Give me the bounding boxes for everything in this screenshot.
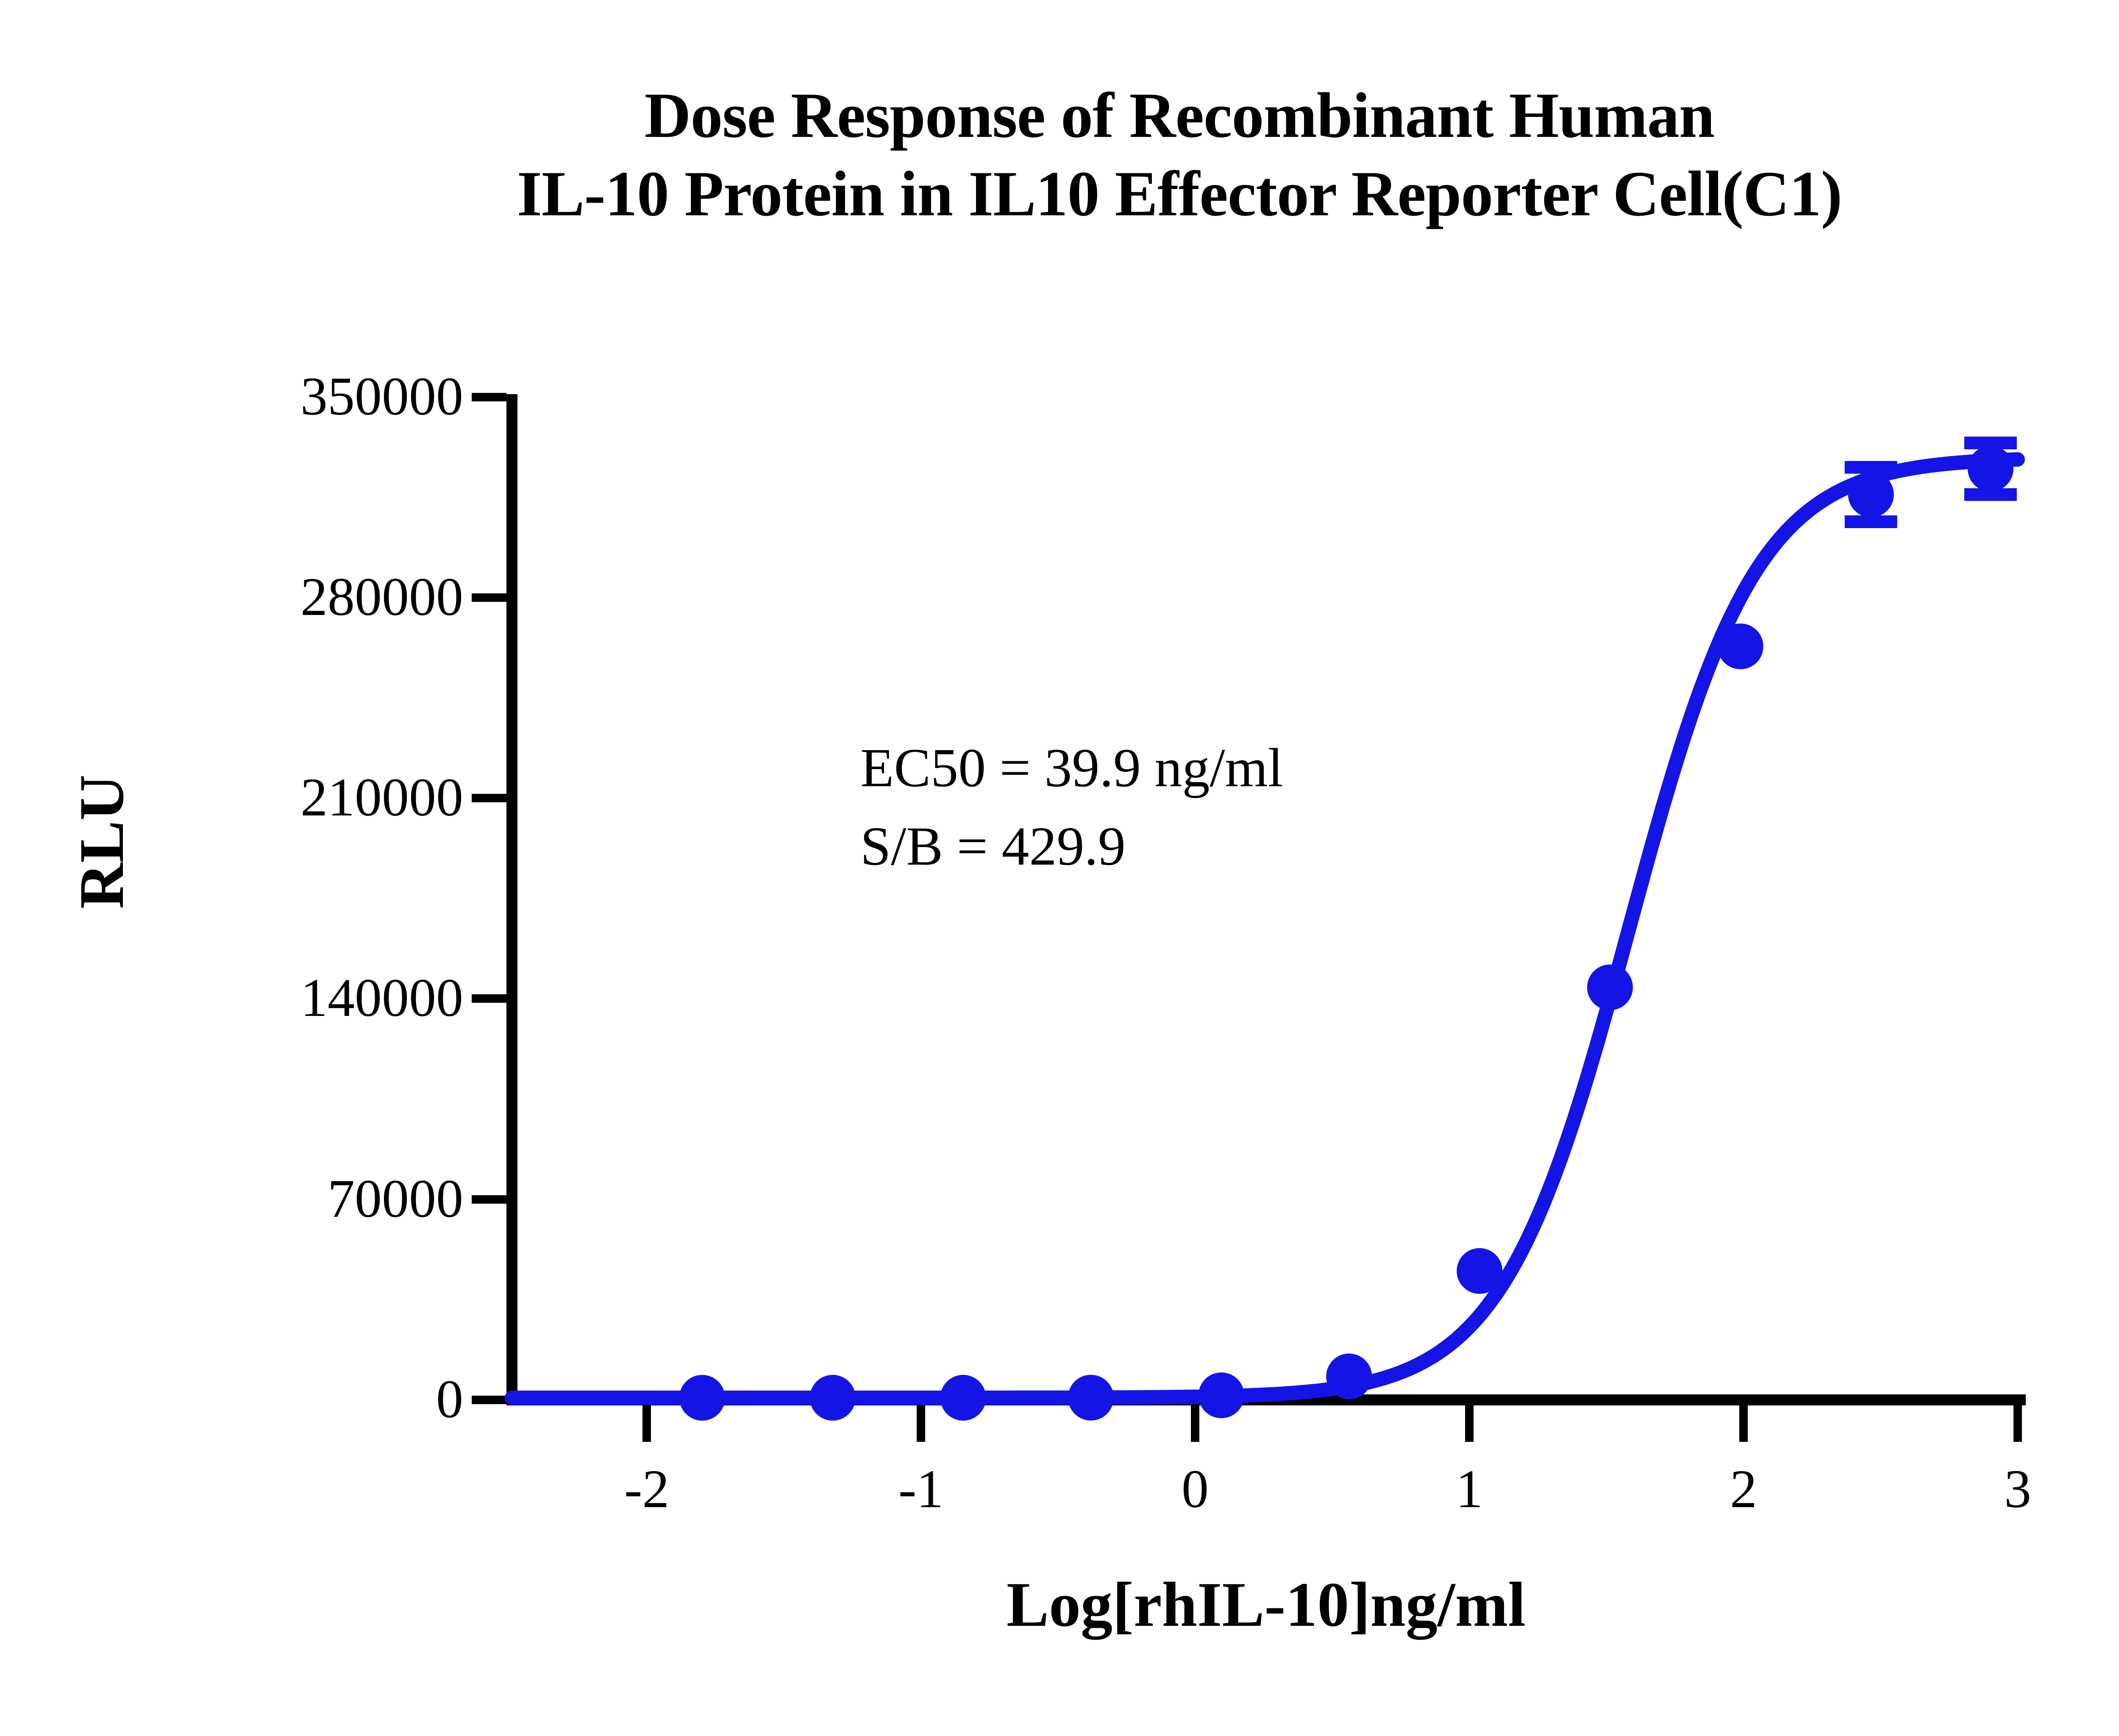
chart-figure: Dose Response of Recombinant Human IL-10… [0,0,2119,1736]
data-point-marker [1718,623,1763,669]
data-point-marker [1587,965,1633,1010]
data-point-marker [940,1375,986,1421]
plot-area: 0 70000 140000 210000 280000 350000 -2 -… [0,0,2119,1736]
data-point-marker [1199,1372,1244,1418]
data-point-marker [1457,1248,1502,1294]
data-point-marker [1848,472,1894,517]
fit-curve-group [512,459,2018,1398]
data-layer [0,0,2119,1736]
data-point-marker [1068,1375,1114,1421]
data-point-marker [810,1375,856,1421]
data-point-marker [1326,1354,1372,1399]
fit-curve [512,459,2018,1398]
data-point-marker [679,1375,725,1421]
data-point-marker [1968,446,2013,492]
data-marker-group [679,446,2013,1421]
